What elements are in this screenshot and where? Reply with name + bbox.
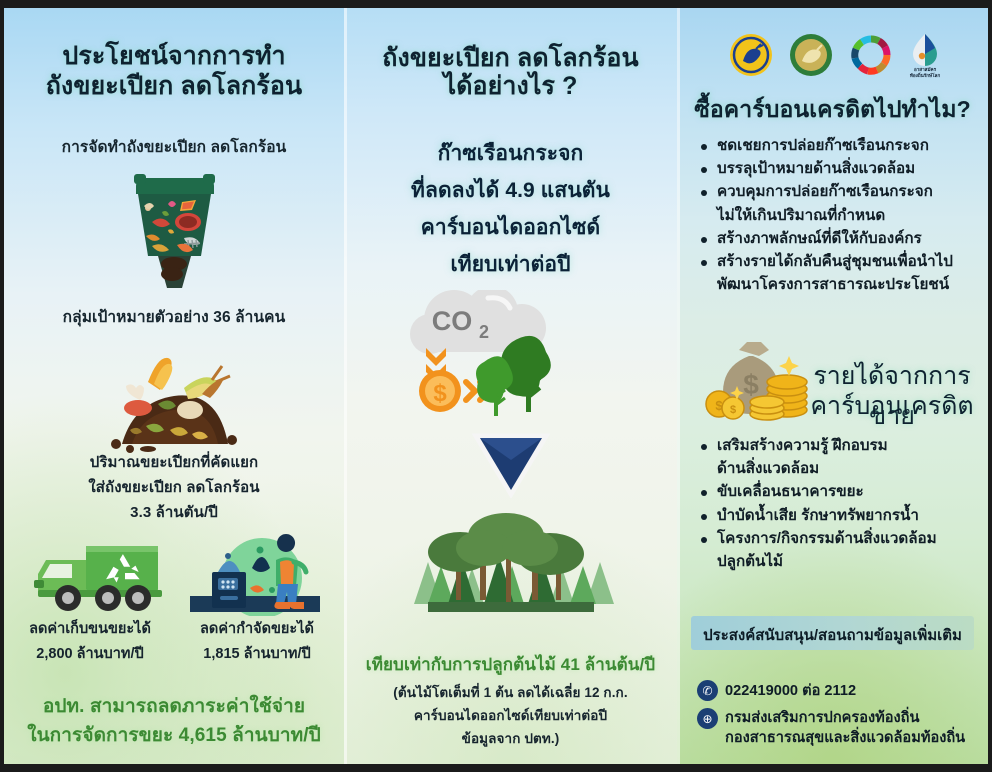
co2-subscript: 2 [479,322,489,342]
co2-cloud-icon: CO 2 $ [384,290,584,425]
column-benefits: ประโยชน์จากการทำ ถังขยะเปียก ลดโลกร้อน ก… [4,8,344,764]
list-item: โครงการ/กิจกรรมด้านสิ่งแวดล้อม [717,529,988,549]
left-waste-line1: ปริมาณขยะเปียกที่คัดแยก [4,454,344,472]
down-arrow-icon [468,432,554,498]
mid-stat-line2: ที่ลดลงได้ 4.9 แสนตัน [344,179,677,204]
contact-org-line2: กองสาธารณสุขและสิ่งแวดล้อมท้องถิ่น [725,729,982,748]
globe-icon: ⊕ [697,708,718,729]
left-title-line2: ถังขยะเปียก ลดโลกร้อน [4,72,344,102]
left-summary-line2: ในการจัดการขยะ 4,615 ล้านบาท/ปี [4,725,344,747]
right-heading-buy: ซื้อคาร์บอนเครดิตไปทำไม? [677,96,988,123]
svg-text:$: $ [433,380,447,407]
list-item: ขับเคลื่อนธนาคารขยะ [717,482,988,502]
left-target-group: กลุ่มเป้าหมายตัวอย่าง 36 ล้านคน [4,309,344,327]
dollar-coin-icon: $ [419,370,461,412]
list-item: ชดเชยการปล่อยก๊าซเรือนกระจก [717,136,988,156]
list-item: สร้างภาพลักษณ์ที่ดีให้กับองค์กร [717,229,988,249]
logo-local-volunteer-drop: อาสาสมัครท้องถิ่นรักษ์โลก [909,32,941,78]
mid-stat-line3: คาร์บอนไดออกไซด์ [344,216,677,241]
column-divider-left [344,8,347,764]
left-subtitle: การจัดทำถังขยะเปียก ลดโลกร้อน [4,139,344,157]
right-heading-income-line2: คาร์บอนเครดิต [797,386,987,426]
list-item: เสริมสร้างความรู้ ฝึกอบรม [717,436,988,456]
forest-icon [400,508,622,618]
left-stat1-line1: ลดค่าเก็บขนขยะได้ [10,620,170,639]
column-how: ถังขยะเปียก ลดโลกร้อน ได้อย่างไร ? ก๊าซเ… [344,8,677,764]
green-waste-bin-icon [122,160,227,290]
left-stat2-line2: 1,815 ล้านบาท/ปี [176,645,338,664]
svg-text:$: $ [743,369,759,400]
list-item: สร้างรายได้กลับคืนสู่ชุมชนเพื่อนำไป [717,252,988,272]
left-stat2-line1: ลดค่ากำจัดขยะได้ [176,620,338,639]
left-summary-line1: อปท. สามารถลดภาระค่าใช้จ่าย [4,696,344,718]
logo-interior-ministry-blue-gold [729,33,773,77]
mid-forest-caption: เทียบเท่ากับการปลูกต้นไม้ 41 ล้านต้น/ปี [344,655,677,675]
recycling-truck-icon [26,536,166,614]
left-title-line1: ประโยชน์จากการทำ [4,42,344,72]
contact-phone-row[interactable]: ✆ 022419000 ต่อ 2112 [697,680,967,699]
money-bag-coins-icon: $ $ $ [699,338,809,430]
infographic-poster: ประโยชน์จากการทำ ถังขยะเปียก ลดโลกร้อน ก… [4,8,988,764]
phone-icon: ✆ [697,680,718,701]
waste-sorting-person-icon [190,534,320,616]
logo-row: อาสาสมัครท้องถิ่นรักษ์โลก [729,26,957,84]
mid-stat-line1: ก๊าซเรือนกระจก [344,142,677,167]
mid-note-line2: คาร์บอนไดออกไซด์เทียบเท่าต่อปี [344,707,677,725]
logo-sdg-wheel [849,33,893,77]
mid-note-line3: ข้อมูลจาก ปตท.) [344,730,677,748]
food-waste-compost-pile-icon [96,348,252,458]
svg-text:$: $ [730,404,736,416]
list-item: ควบคุมการปล่อยก๊าซเรือนกระจก [717,182,988,202]
co2-text: CO [432,306,473,336]
mid-title-line1: ถังขยะเปียก ลดโลกร้อน [344,44,677,74]
left-waste-line3: 3.3 ล้านตัน/ปี [4,504,344,522]
contact-org-row[interactable]: ⊕ กรมส่งเสริมการปกครองท้องถิ่น กองสาธารณ… [697,708,982,746]
left-waste-line2: ใส่ถังขยะเปียก ลดโลกร้อน [4,479,344,497]
bullets-income-list: เสริมสร้างความรู้ ฝึกอบรม ด้านสิ่งแวดล้อ… [687,436,988,575]
contact-org-line1: กรมส่งเสริมการปกครองท้องถิ่น [725,709,982,728]
bullets-buy-list: ชดเชยการปล่อยก๊าซเรือนกระจก บรรลุเป้าหมา… [687,136,988,299]
footer-band-text: ประสงค์สนับสนุน/สอนถามข้อมูลเพิ่มเติม [677,623,988,647]
list-item: ด้านสิ่งแวดล้อม [717,459,988,479]
list-item: ไม่ให้เกินปริมาณที่กำหนด [717,206,988,226]
list-item: บำบัดน้ำเสีย รักษาทรัพยากรน้ำ [717,506,988,526]
mid-title-line2: ได้อย่างไร ? [344,72,677,102]
logo-dla-green-gold [789,33,833,77]
left-stat1-line2: 2,800 ล้านบาท/ปี [10,645,170,664]
list-item: ปลูกต้นไม้ [717,552,988,572]
mid-stat-line4: เทียบเท่าต่อปี [344,253,677,278]
list-item: พัฒนาโครงการสาธารณะประโยชน์ [717,275,988,295]
mid-note-line1: (ต้นไม้โตเต็มที่ 1 ต้น ลดได้เฉลี่ย 12 ก.… [344,684,677,702]
contact-phone: 022419000 ต่อ 2112 [725,682,967,701]
column-carbon-credit: อาสาสมัครท้องถิ่นรักษ์โลก ซื้อคาร์บอนเคร… [677,8,988,764]
list-item: บรรลุเป้าหมายด้านสิ่งแวดล้อม [717,159,988,179]
